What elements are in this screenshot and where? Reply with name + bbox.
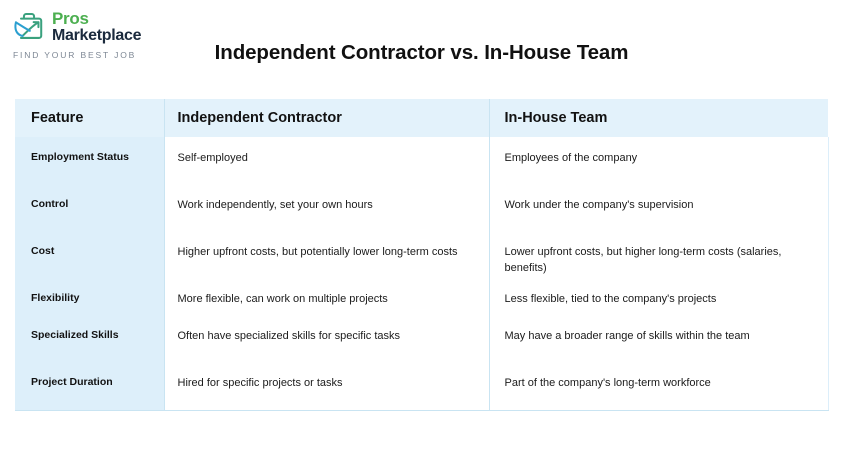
cell-contractor: Often have specialized skills for specif… [164, 315, 489, 362]
column-header-feature: Feature [15, 99, 164, 137]
brand-wordmark: Pros Marketplace [52, 10, 141, 44]
table-header: Feature Independent Contractor In-House … [15, 99, 828, 137]
table-row: Employment Status Self-employed Employee… [15, 137, 828, 184]
cell-contractor: Higher upfront costs, but potentially lo… [164, 231, 489, 278]
table-header-row: Feature Independent Contractor In-House … [15, 99, 828, 137]
cell-inhouse: Part of the company's long-term workforc… [489, 362, 828, 410]
cell-feature: Employment Status [15, 137, 164, 184]
table-row: Control Work independently, set your own… [15, 184, 828, 231]
table-row: Cost Higher upfront costs, but potential… [15, 231, 828, 278]
page-header: Pros Marketplace FIND YOUR BEST JOB Inde… [0, 0, 843, 99]
cell-inhouse: Less flexible, tied to the company's pro… [489, 278, 828, 315]
cell-contractor: More flexible, can work on multiple proj… [164, 278, 489, 315]
table-row: Project Duration Hired for specific proj… [15, 362, 828, 410]
cell-contractor: Self-employed [164, 137, 489, 184]
comparison-table: Feature Independent Contractor In-House … [15, 99, 829, 411]
cell-inhouse: May have a broader range of skills withi… [489, 315, 828, 362]
table-body: Employment Status Self-employed Employee… [15, 137, 828, 410]
cell-feature: Flexibility [15, 278, 164, 315]
cell-feature: Cost [15, 231, 164, 278]
cell-contractor: Hired for specific projects or tasks [164, 362, 489, 410]
table-row: Flexibility More flexible, can work on m… [15, 278, 828, 315]
table-row: Specialized Skills Often have specialize… [15, 315, 828, 362]
page-title: Independent Contractor vs. In-House Team [0, 41, 843, 65]
cell-inhouse: Employees of the company [489, 137, 828, 184]
cell-contractor: Work independently, set your own hours [164, 184, 489, 231]
cell-inhouse: Lower upfront costs, but higher long-ter… [489, 231, 828, 278]
cell-feature: Control [15, 184, 164, 231]
briefcase-arrow-logo-icon [12, 11, 46, 43]
brand-top: Pros Marketplace [12, 10, 141, 44]
brand-name-primary: Pros [52, 10, 141, 27]
cell-feature: Specialized Skills [15, 315, 164, 362]
cell-inhouse: Work under the company's supervision [489, 184, 828, 231]
column-header-independent-contractor: Independent Contractor [164, 99, 489, 137]
column-header-in-house-team: In-House Team [489, 99, 828, 137]
cell-feature: Project Duration [15, 362, 164, 410]
